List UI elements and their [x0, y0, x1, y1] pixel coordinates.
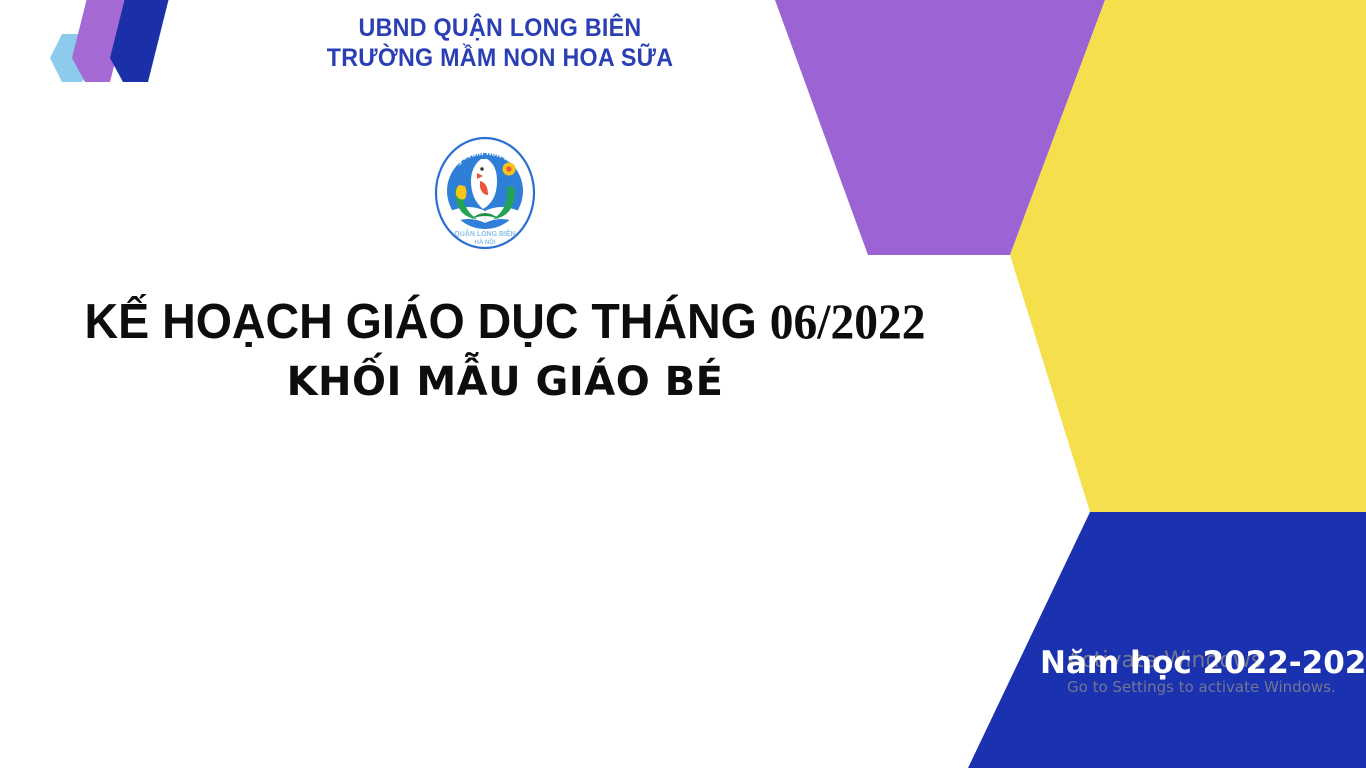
emblem-sun-core-icon: [506, 166, 511, 171]
emblem-bottom-line2: HÀ NỘI: [475, 238, 496, 246]
title-slide: UBND QUẬN LONG BIÊN TRƯỜNG MẦM NON HOA S…: [0, 0, 1366, 768]
page-subtitle: KHỐI MẪU GIÁO BÉ: [0, 361, 1010, 403]
purple-hexagon-shape: [775, 0, 1105, 255]
watermark-subtitle: Go to Settings to activate Windows.: [1067, 678, 1366, 698]
emblem-bird-eye-icon: [480, 167, 483, 170]
blue-hexagon-shape: [968, 512, 1366, 768]
emblem-bottom-line1: QUẬN LONG BIÊN: [454, 229, 515, 238]
title-block: KẾ HOẠCH GIÁO DỤC THÁNG 06/2022 KHỐI MẪU…: [0, 296, 1010, 403]
page-title: KẾ HOẠCH GIÁO DỤC THÁNG 06/2022: [25, 296, 985, 348]
title-main-prefix: KẾ HOẠCH GIÁO DỤC THÁNG: [84, 295, 769, 349]
school-year-label: Năm học 2022-2023: [1040, 645, 1366, 681]
header-line-school: TRƯỜNG MẦM NON HOA SỮA: [249, 44, 751, 74]
school-emblem: Trường Mầm non Hoa Sữa QUẬN LONG BIÊN HÀ…: [425, 133, 545, 255]
hexagon-logo: [24, 0, 184, 104]
yellow-hexagon-shape: [1010, 0, 1366, 512]
header-line-authority: UBND QUẬN LONG BIÊN: [249, 14, 751, 44]
title-main-month: 06/2022: [770, 293, 926, 349]
school-header: UBND QUẬN LONG BIÊN TRƯỜNG MẦM NON HOA S…: [230, 14, 770, 73]
